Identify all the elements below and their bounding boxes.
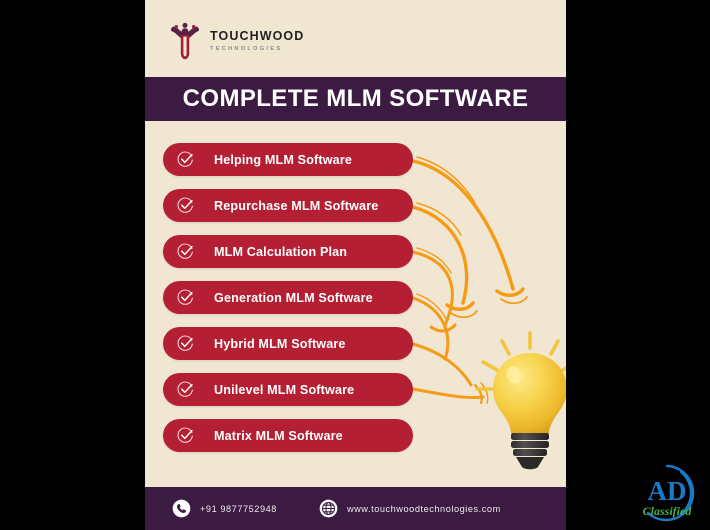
check-circle-icon [177, 289, 194, 306]
list-item[interactable]: Generation MLM Software [163, 281, 413, 314]
feature-list: Helping MLM Software Repurchase MLM Soft… [163, 143, 413, 465]
ad-classified-badge-icon: AD Classified [634, 460, 700, 526]
page-title: COMPLETE MLM SOFTWARE [183, 85, 529, 113]
globe-icon [319, 499, 338, 518]
watermark-secondary-text: Classified [643, 504, 693, 518]
list-item-label: Matrix MLM Software [214, 429, 343, 443]
lightbulb-icon [475, 331, 566, 471]
title-band: COMPLETE MLM SOFTWARE [145, 77, 566, 121]
brand-wordmark: TOUCHWOOD TECHNOLOGIES [210, 30, 304, 51]
check-circle-icon [177, 381, 194, 398]
list-item[interactable]: MLM Calculation Plan [163, 235, 413, 268]
check-circle-icon [177, 427, 194, 444]
check-circle-icon [177, 197, 194, 214]
list-item[interactable]: Hybrid MLM Software [163, 327, 413, 360]
poster-card: TOUCHWOOD TECHNOLOGIES COMPLETE MLM SOFT… [145, 0, 566, 530]
list-item-label: Unilevel MLM Software [214, 383, 354, 397]
contact-phone[interactable]: +91 9877752948 [172, 499, 277, 518]
list-item[interactable]: Helping MLM Software [163, 143, 413, 176]
check-circle-icon [177, 151, 194, 168]
touchwood-t-people-logo-icon [168, 22, 202, 60]
phone-number: +91 9877752948 [200, 504, 277, 514]
list-item-label: Generation MLM Software [214, 291, 373, 305]
list-item[interactable]: Matrix MLM Software [163, 419, 413, 452]
website-url: www.touchwoodtechnologies.com [347, 504, 501, 514]
content-area: Helping MLM Software Repurchase MLM Soft… [145, 121, 566, 487]
list-item-label: Helping MLM Software [214, 153, 352, 167]
list-item[interactable]: Unilevel MLM Software [163, 373, 413, 406]
list-item[interactable]: Repurchase MLM Software [163, 189, 413, 222]
list-item-label: Hybrid MLM Software [214, 337, 346, 351]
brand-logo: TOUCHWOOD TECHNOLOGIES [168, 22, 304, 60]
contact-website[interactable]: www.touchwoodtechnologies.com [319, 499, 501, 518]
list-item-label: Repurchase MLM Software [214, 199, 378, 213]
check-circle-icon [177, 243, 194, 260]
phone-icon [172, 499, 191, 518]
check-circle-icon [177, 335, 194, 352]
logo-band: TOUCHWOOD TECHNOLOGIES [145, 0, 566, 77]
brand-tagline: TECHNOLOGIES [210, 46, 304, 52]
watermark-primary-text: AD [648, 476, 687, 506]
list-item-label: MLM Calculation Plan [214, 245, 347, 259]
footer-band: +91 9877752948 www.touchwoodtechnologies… [145, 487, 566, 530]
brand-name: TOUCHWOOD [210, 30, 304, 43]
